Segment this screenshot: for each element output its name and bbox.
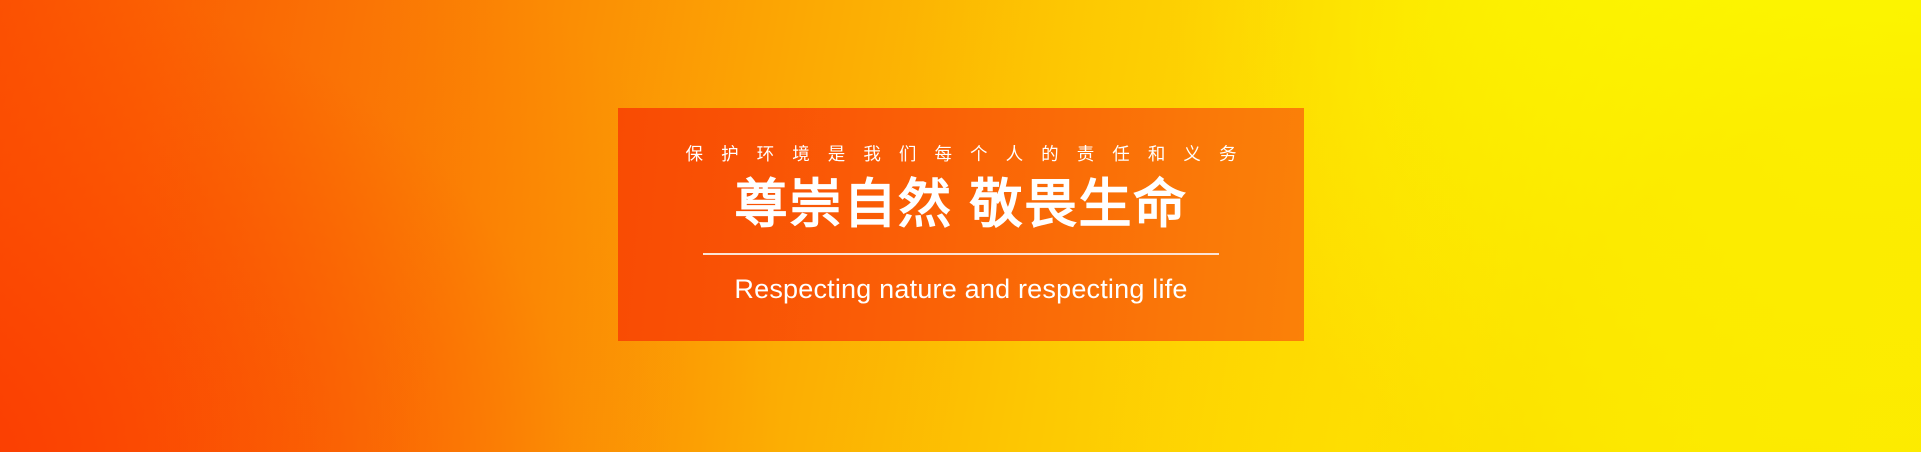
headline: 尊崇自然敬畏生命 bbox=[735, 177, 1188, 233]
headline-phrase-primary: 尊崇自然 bbox=[735, 175, 953, 234]
slogan-panel: 保 护 环 境 是 我 们 每 个 人 的 责 任 和 义 务 尊崇自然敬畏生命… bbox=[618, 108, 1304, 341]
divider-rule bbox=[703, 253, 1219, 255]
tagline-text: 保 护 环 境 是 我 们 每 个 人 的 责 任 和 义 务 bbox=[679, 146, 1243, 164]
environment-banner: 保 护 环 境 是 我 们 每 个 人 的 责 任 和 义 务 尊崇自然敬畏生命… bbox=[0, 0, 1921, 452]
headline-phrase-secondary: 敬畏生命 bbox=[970, 175, 1188, 234]
subtitle-text: Respecting nature and respecting life bbox=[734, 276, 1187, 303]
